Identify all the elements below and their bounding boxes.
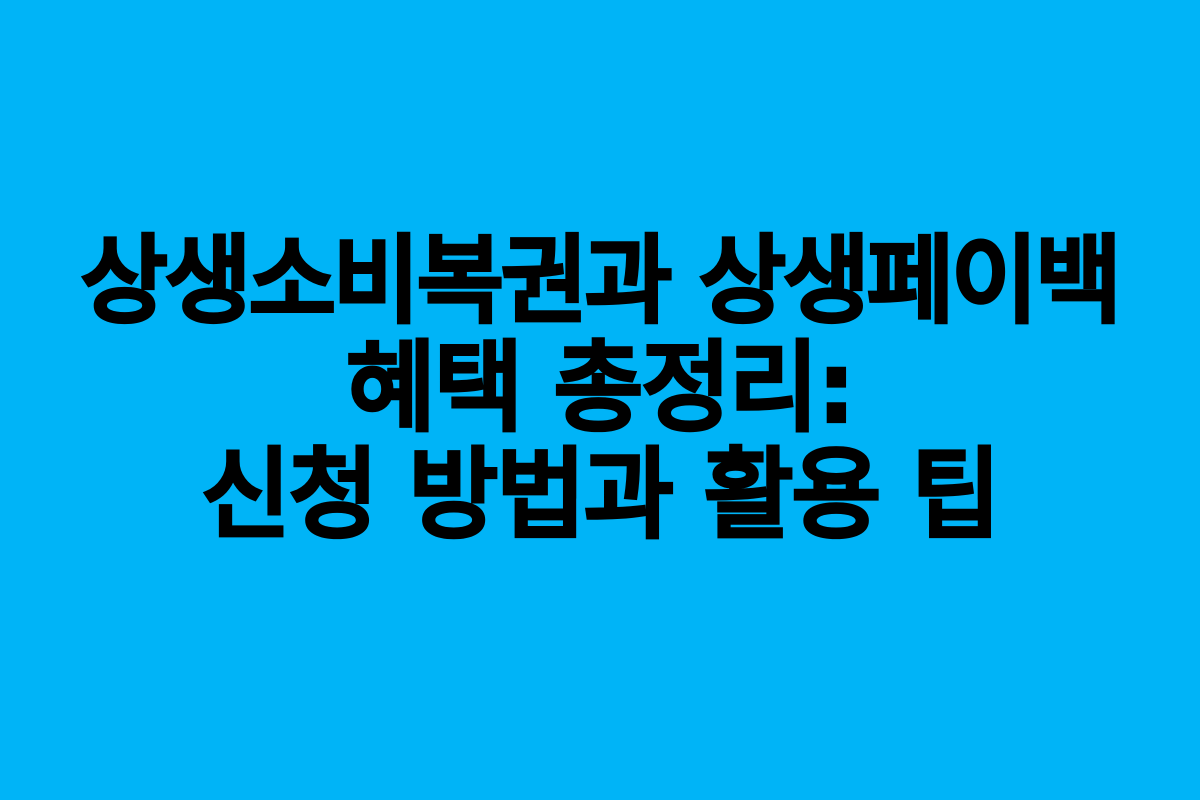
thumbnail-card: 상생소비복권과 상생페이백 혜택 총정리: 신청 방법과 활용 팁 (0, 0, 1200, 800)
headline-block: 상생소비복권과 상생페이백 혜택 총정리: 신청 방법과 활용 팁 (0, 228, 1200, 549)
headline-line-1: 상생소비복권과 상생페이백 (25, 228, 1175, 335)
headline-line-3: 신청 방법과 활용 팁 (25, 442, 1175, 549)
headline-line-2: 혜택 총정리: (25, 335, 1175, 442)
